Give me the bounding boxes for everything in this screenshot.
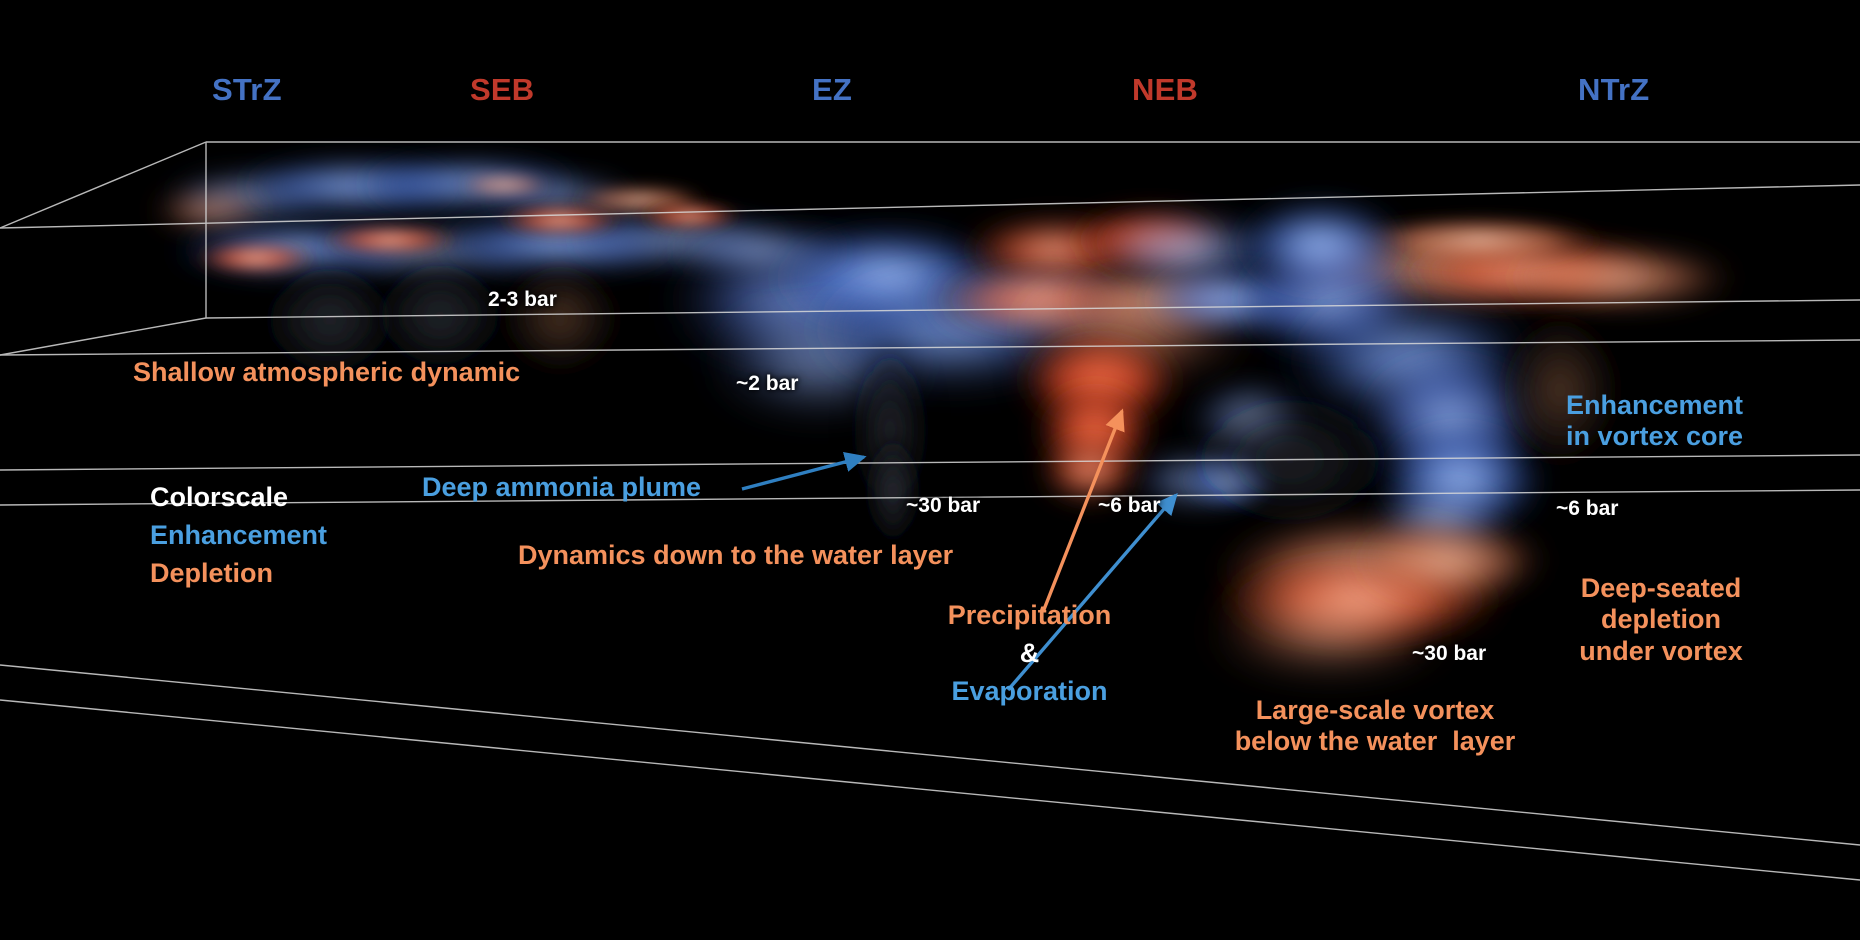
callout-shallow-atmospheric-dynamic: Shallow atmospheric dynamic	[133, 357, 520, 388]
pressure-label-2-bar: ~2 bar	[736, 372, 798, 396]
annotation-arrows	[0, 0, 1860, 940]
volume-rendering	[0, 0, 1860, 940]
callout-enhancement-in-vortex-core: Enhancement in vortex core	[1566, 390, 1743, 453]
zone-label-ez: EZ	[812, 72, 852, 108]
callout-evaporation: Evaporation	[922, 676, 1137, 707]
wire-plane-bottom-back	[0, 700, 1860, 880]
callout-large-scale-vortex: Large-scale vortex below the water layer	[1210, 695, 1540, 758]
callout-deep-ammonia-plume: Deep ammonia plume	[422, 472, 701, 503]
deep-ammonia-plume-arrow	[742, 457, 864, 489]
pressure-label-6-bar-right: ~6 bar	[1556, 497, 1618, 521]
callout-precipitation: Precipitation	[922, 600, 1137, 631]
callout-deep-seated-depletion-under-vortex: Deep-seated depletion under vortex	[1556, 573, 1766, 667]
wire-plane-6bar-front	[0, 455, 1860, 470]
figure-canvas: STrZ SEB EZ NEB NTrZ Shallow atmospheric…	[0, 0, 1860, 940]
wire-plane-2bar-back	[0, 340, 1860, 355]
wire-plane-2bar-left	[0, 318, 206, 355]
pressure-label-6-bar-center: ~6 bar	[1098, 494, 1160, 518]
pressure-label-30-bar-left: ~30 bar	[906, 494, 980, 518]
zone-label-strz: STrZ	[212, 72, 282, 108]
pressure-label-2-3-bar: 2-3 bar	[488, 288, 557, 312]
legend-row-enhancement: Enhancement	[150, 520, 327, 551]
legend-row-depletion: Depletion	[150, 558, 273, 589]
belt-label-seb: SEB	[470, 72, 534, 108]
wire-top-back	[0, 185, 1860, 228]
callout-ampersand: &	[922, 638, 1137, 669]
callout-dynamics-down-to-water-layer: Dynamics down to the water layer	[518, 540, 953, 571]
wire-plane-2bar-front	[206, 300, 1860, 318]
pressure-label-30-bar-right: ~30 bar	[1412, 642, 1486, 666]
bounding-box-wireframe	[0, 0, 1860, 940]
zone-label-ntrz: NTrZ	[1578, 72, 1649, 108]
belt-label-neb: NEB	[1132, 72, 1198, 108]
wire-top-left	[0, 142, 206, 228]
legend-title: Colorscale	[150, 482, 288, 513]
